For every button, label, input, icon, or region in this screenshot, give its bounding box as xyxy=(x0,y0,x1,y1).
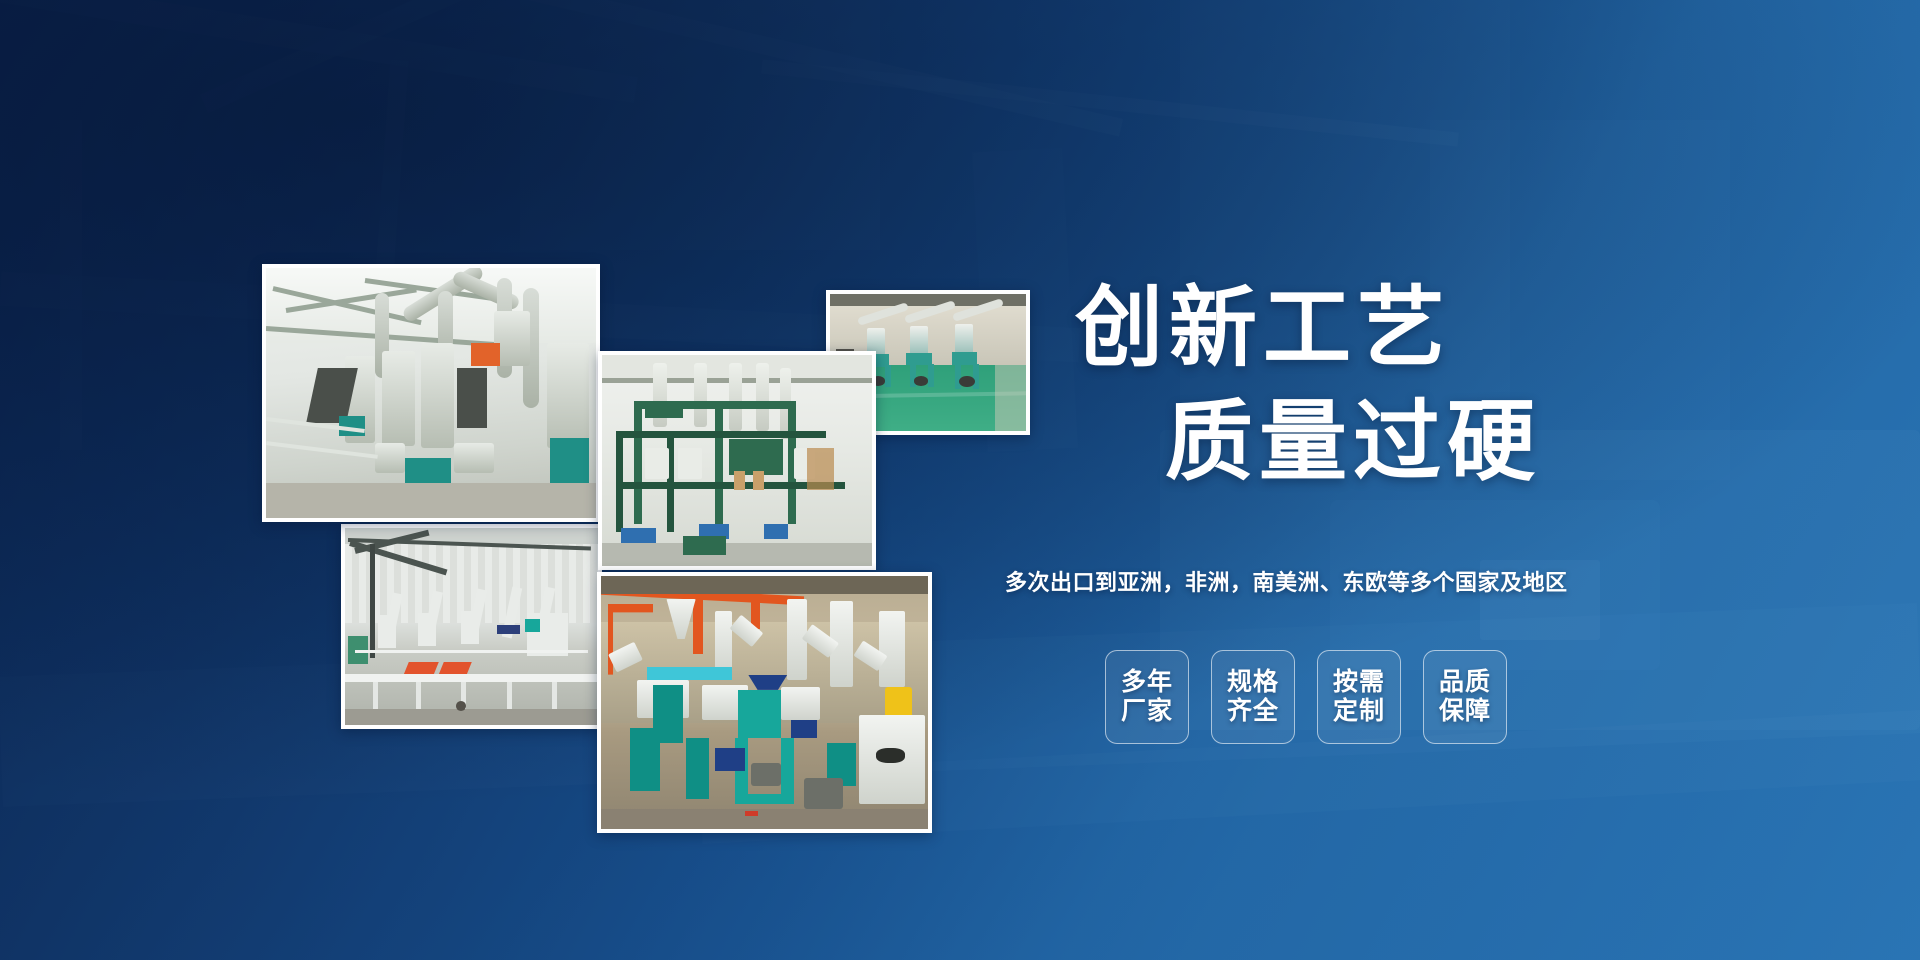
badge-customization-line-1: 按需 xyxy=(1333,668,1385,698)
badge-specifications-line-2: 齐全 xyxy=(1227,697,1279,727)
photo-teal-milling-machines[interactable] xyxy=(597,572,932,833)
feature-badges: 多年 厂家 规格 齐全 按需 定制 品质 保障 xyxy=(1105,650,1507,744)
photo-grey-mill-production-line[interactable] xyxy=(262,264,600,522)
badge-experience-line-2: 厂家 xyxy=(1121,697,1173,727)
badge-specifications[interactable]: 规格 齐全 xyxy=(1211,650,1295,744)
promo-banner: 创新工艺 质量过硬 多次出口到亚洲，非洲，南美洲、东欧等多个国家及地区 多年 厂… xyxy=(0,0,1920,960)
badge-quality[interactable]: 品质 保障 xyxy=(1423,650,1507,744)
badge-specifications-line-1: 规格 xyxy=(1227,668,1279,698)
badge-quality-line-2: 保障 xyxy=(1439,697,1491,727)
badge-quality-line-1: 品质 xyxy=(1439,668,1491,698)
badge-customization[interactable]: 按需 定制 xyxy=(1317,650,1401,744)
headline-line-1: 创新工艺 xyxy=(1075,282,1665,374)
headline-group: 创新工艺 质量过硬 xyxy=(1005,282,1665,487)
headline-line-2: 质量过硬 xyxy=(1165,396,1665,488)
badge-experience-line-1: 多年 xyxy=(1121,668,1173,698)
badge-experience[interactable]: 多年 厂家 xyxy=(1105,650,1189,744)
banner-subtitle: 多次出口到亚洲，非洲，南美洲、东欧等多个国家及地区 xyxy=(1005,565,1705,597)
photo-collage xyxy=(0,0,960,960)
photo-green-flour-mill-frame[interactable] xyxy=(598,351,876,570)
badge-customization-line-2: 定制 xyxy=(1333,697,1385,727)
photo-white-platform-line[interactable] xyxy=(341,524,602,729)
banner-content: 创新工艺 质量过硬 多次出口到亚洲，非洲，南美洲、东欧等多个国家及地区 多年 厂… xyxy=(1005,0,1665,960)
